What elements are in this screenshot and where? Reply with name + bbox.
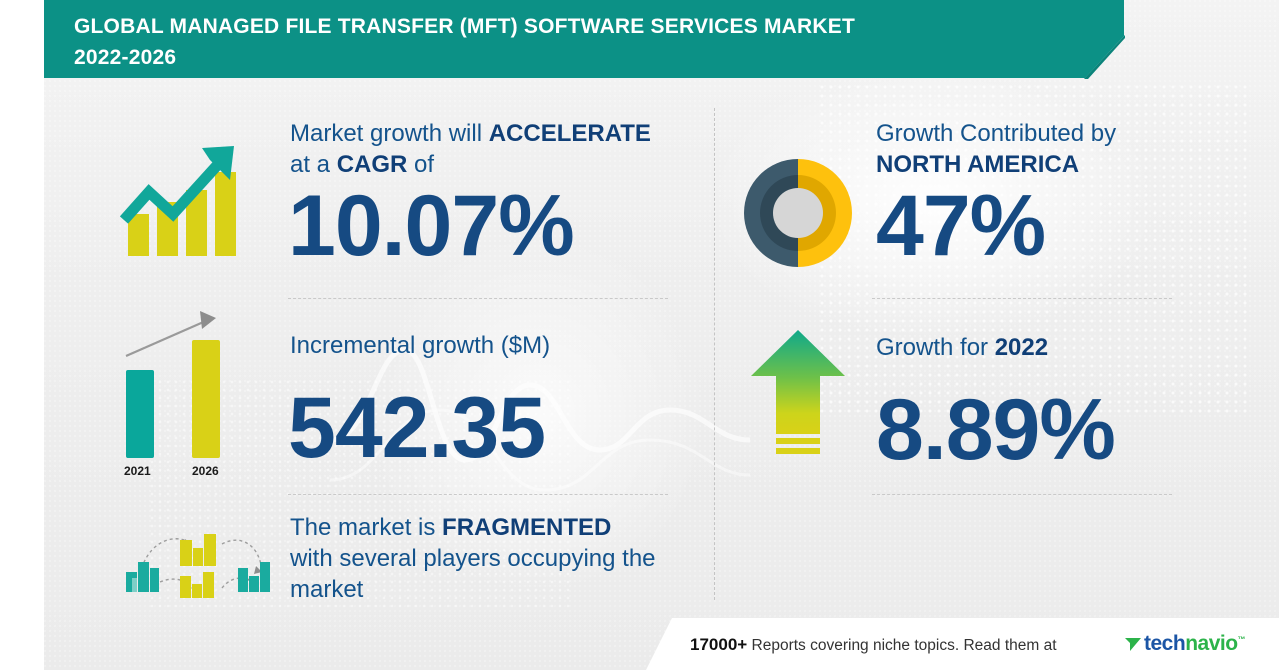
- growth-year-label-prefix: Growth for: [876, 334, 995, 361]
- cagr-icon: [118, 142, 258, 265]
- incremental-growth-value: 542.35: [288, 380, 545, 476]
- growth-year-value: 8.89%: [876, 382, 1115, 478]
- region-label-line1: Growth Contributed by: [876, 120, 1116, 147]
- fragmentation-line3: market: [290, 576, 363, 603]
- cagr-label-cagr: CAGR: [337, 151, 408, 178]
- infographic-canvas: GLOBAL MANAGED FILE TRANSFER (MFT) SOFTW…: [0, 0, 1279, 670]
- fragmentation-text: The market is FRAGMENTED with several pl…: [290, 512, 680, 605]
- cagr-label-line2-prefix: at a: [290, 151, 337, 178]
- cagr-label: Market growth will ACCELERATE at a CAGR …: [290, 118, 670, 180]
- region-value: 47%: [876, 178, 1045, 274]
- page-title-line2: 2022-2026: [74, 42, 1034, 73]
- fragmentation-icon: [118, 518, 278, 607]
- technavio-flag-icon: [1124, 634, 1142, 654]
- fragmentation-bold: FRAGMENTED: [442, 514, 611, 541]
- incremental-growth-label: Incremental growth ($M): [290, 330, 670, 361]
- technavio-logo[interactable]: technavio™: [1124, 632, 1245, 656]
- fragmentation-prefix: The market is: [290, 514, 442, 541]
- footer-text: 17000+ Reports covering niche topics. Re…: [690, 635, 1057, 655]
- technavio-logo-navio: navio: [1185, 632, 1237, 655]
- region-label: Growth Contributed by NORTH AMERICA: [876, 118, 1176, 180]
- technavio-logo-tech: tech: [1144, 632, 1185, 655]
- growth-year-icon: [746, 328, 850, 473]
- growth-year-label: Growth for 2022: [876, 332, 1176, 363]
- footer-report-count: 17000+: [690, 635, 747, 654]
- cagr-label-line2-suffix: of: [407, 151, 434, 178]
- bar-label-2026: 2026: [192, 464, 219, 478]
- cagr-value: 10.07%: [288, 178, 574, 274]
- cagr-label-prefix: Market growth will: [290, 120, 489, 147]
- technavio-logo-tm: ™: [1238, 635, 1246, 644]
- divider-right-1: [872, 298, 1172, 299]
- bar-label-2021: 2021: [124, 464, 151, 478]
- cagr-label-accelerate: ACCELERATE: [489, 120, 651, 147]
- divider-left-1: [288, 298, 668, 299]
- region-donut-icon: [740, 155, 856, 276]
- fragmentation-line2: with several players occupying the: [290, 545, 656, 572]
- divider-left-2: [288, 494, 668, 495]
- region-label-bold: NORTH AMERICA: [876, 151, 1079, 178]
- incremental-growth-icon: [116, 308, 244, 473]
- divider-right-2: [872, 494, 1172, 495]
- page-title-line1: GLOBAL MANAGED FILE TRANSFER (MFT) SOFTW…: [74, 11, 1034, 42]
- divider-vertical-center: [714, 108, 715, 600]
- footer-caption: Reports covering niche topics. Read them…: [752, 637, 1057, 654]
- page-title: GLOBAL MANAGED FILE TRANSFER (MFT) SOFTW…: [74, 11, 1034, 73]
- growth-year-label-bold: 2022: [995, 334, 1048, 361]
